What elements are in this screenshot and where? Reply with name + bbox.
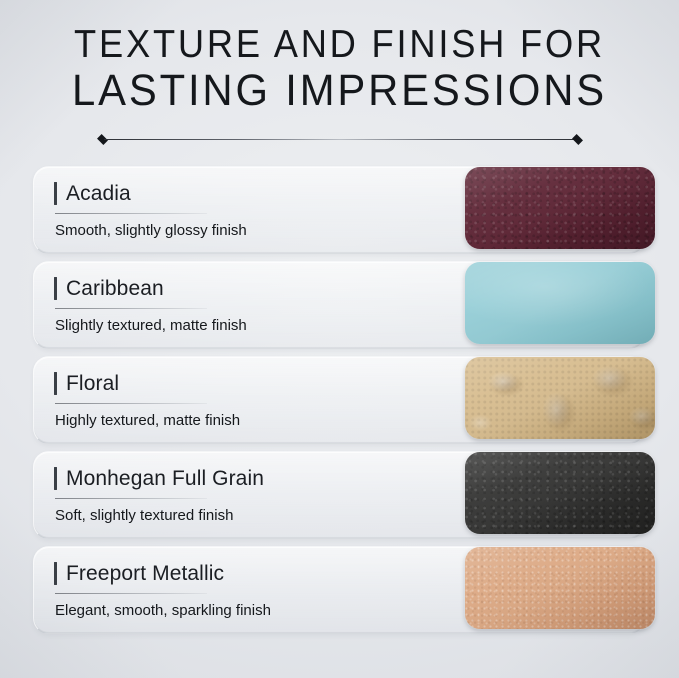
finish-description: Soft, slightly textured finish [55, 507, 454, 524]
finish-list: AcadiaSmooth, slightly glossy finishCari… [0, 163, 679, 638]
finish-description: Smooth, slightly glossy finish [55, 222, 454, 239]
header: TEXTURE AND FINISH FOR LASTING IMPRESSIO… [0, 24, 679, 115]
finish-row: FloralHighly textured, matte finish [0, 353, 679, 448]
finish-name-wrap: Acadia [54, 178, 454, 208]
accent-bar-icon [54, 277, 57, 300]
finish-row: Monhegan Full GrainSoft, slightly textur… [0, 448, 679, 543]
finish-name: Acadia [66, 183, 131, 204]
finish-name: Floral [66, 373, 119, 394]
diamond-rule-divider [98, 133, 582, 145]
swatch-base-color [465, 167, 655, 249]
finish-description: Elegant, smooth, sparkling finish [55, 602, 454, 619]
finish-description: Slightly textured, matte finish [55, 317, 454, 334]
freeport-metallic-leather-swatch[interactable] [465, 547, 655, 629]
floral-leather-swatch[interactable] [465, 357, 655, 439]
finish-name-underline [55, 403, 207, 404]
accent-bar-icon [54, 467, 57, 490]
swatch-base-color [465, 262, 655, 344]
page-title-line-2: LASTING IMPRESSIONS [17, 68, 662, 115]
swatch-base-color [465, 357, 655, 439]
finish-name-underline [55, 593, 207, 594]
finish-name-wrap: Freeport Metallic [54, 558, 454, 588]
finish-card-body: AcadiaSmooth, slightly glossy finish [54, 178, 454, 239]
diamond-right-icon [572, 134, 583, 145]
finish-name-underline [55, 213, 207, 214]
swatch-base-color [465, 452, 655, 534]
finish-name: Freeport Metallic [66, 563, 224, 584]
page-title-line-1: TEXTURE AND FINISH FOR [24, 24, 655, 65]
divider-rule [104, 139, 576, 140]
acadia-leather-swatch[interactable] [465, 167, 655, 249]
finish-card-body: CaribbeanSlightly textured, matte finish [54, 273, 454, 334]
finish-name-wrap: Caribbean [54, 273, 454, 303]
finish-card-body: FloralHighly textured, matte finish [54, 368, 454, 429]
finish-name-underline [55, 308, 207, 309]
accent-bar-icon [54, 562, 57, 585]
finish-name-underline [55, 498, 207, 499]
finish-card-body: Monhegan Full GrainSoft, slightly textur… [54, 463, 454, 524]
finish-name: Monhegan Full Grain [66, 468, 264, 489]
infographic-page: TEXTURE AND FINISH FOR LASTING IMPRESSIO… [0, 0, 679, 678]
monhegan-full-grain-leather-swatch[interactable] [465, 452, 655, 534]
accent-bar-icon [54, 182, 57, 205]
caribbean-leather-swatch[interactable] [465, 262, 655, 344]
finish-row: Freeport MetallicElegant, smooth, sparkl… [0, 543, 679, 638]
accent-bar-icon [54, 372, 57, 395]
finish-card-body: Freeport MetallicElegant, smooth, sparkl… [54, 558, 454, 619]
finish-name-wrap: Floral [54, 368, 454, 398]
finish-description: Highly textured, matte finish [55, 412, 454, 429]
finish-row: AcadiaSmooth, slightly glossy finish [0, 163, 679, 258]
finish-row: CaribbeanSlightly textured, matte finish [0, 258, 679, 353]
diamond-left-icon [97, 134, 108, 145]
finish-name: Caribbean [66, 278, 164, 299]
swatch-base-color [465, 547, 655, 629]
finish-name-wrap: Monhegan Full Grain [54, 463, 454, 493]
